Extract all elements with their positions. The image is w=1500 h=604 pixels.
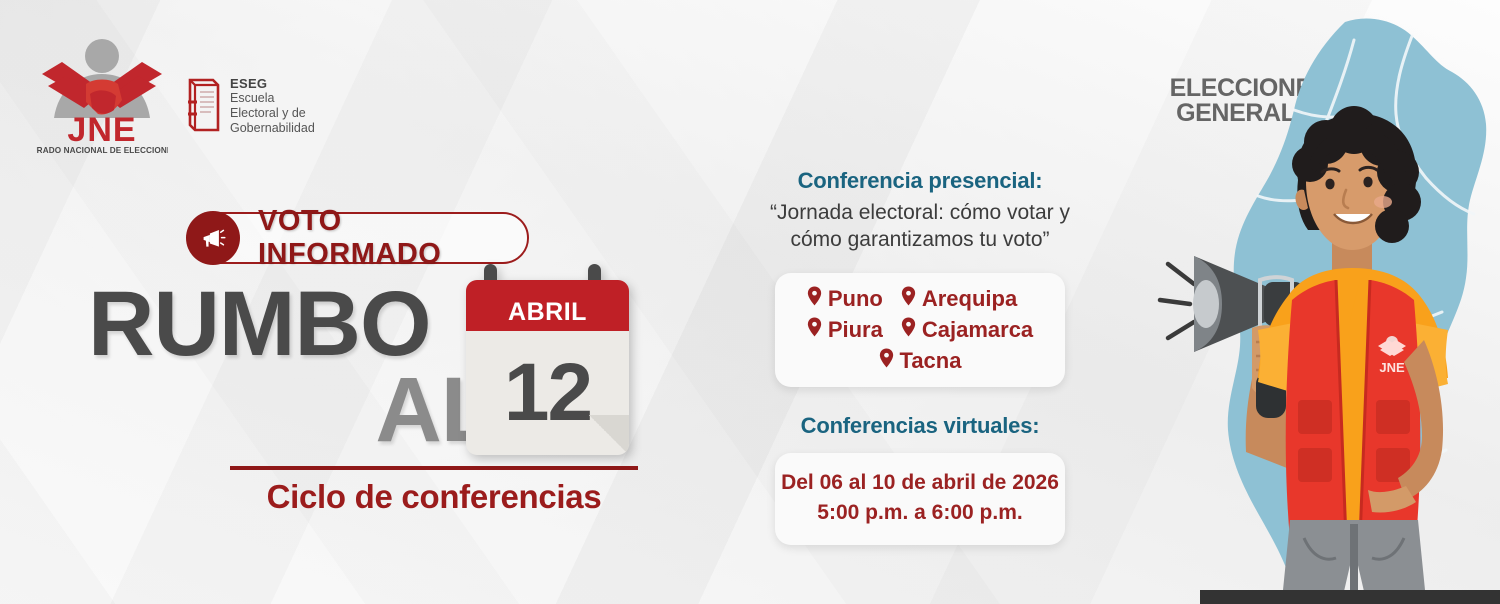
city-label: Cajamarca — [922, 317, 1033, 343]
eseg-line-1: Escuela — [230, 91, 315, 106]
eseg-line-2: Electoral y de — [230, 106, 315, 121]
cities-list: Puno Arequipa — [775, 286, 1065, 374]
virtual-card: Del 06 al 10 de abril de 2026 5:00 p.m. … — [775, 453, 1065, 545]
city-label: Piura — [828, 317, 883, 343]
headline-divider — [230, 466, 638, 470]
eseg-label: ESEG Escuela Electoral y de Gobernabilid… — [230, 76, 315, 136]
voto-informado-badge: VOTO INFORMADO — [190, 212, 529, 264]
calendar-header: ABRIL — [466, 280, 629, 331]
city-label: Arequipa — [922, 286, 1017, 312]
presencial-quote-line-2: cómo garantizamos tu voto” — [735, 227, 1105, 254]
eseg-line-3: Gobernabilidad — [230, 121, 315, 136]
eseg-acronym: ESEG — [230, 76, 315, 91]
calendar-fold-corner — [589, 415, 629, 455]
map-pin-icon — [879, 348, 894, 374]
sound-lines — [1160, 264, 1194, 338]
virtual-heading: Conferencias virtuales: — [735, 413, 1105, 439]
calendar-body: ABRIL 12 — [466, 280, 629, 455]
book-icon — [183, 76, 221, 139]
map-pin-icon — [901, 317, 916, 343]
svg-text:JNE: JNE — [67, 111, 136, 149]
city-label: Tacna — [900, 348, 962, 374]
center-content: Conferencia presencial: “Jornada elector… — [735, 168, 1105, 545]
cities-card: Puno Arequipa — [775, 273, 1065, 387]
virtual-time: 5:00 p.m. a 6:00 p.m. — [775, 498, 1065, 528]
calendar-month: ABRIL — [508, 298, 587, 331]
map-pin-icon — [807, 286, 822, 312]
city-label: Puno — [828, 286, 883, 312]
presencial-quote-line-1: “Jornada electoral: cómo votar y — [735, 200, 1105, 227]
presencial-heading: Conferencia presencial: — [735, 168, 1105, 194]
svg-text:JNE: JNE — [1379, 360, 1405, 375]
city-item: Puno — [807, 286, 883, 312]
floor-bar — [1200, 590, 1500, 604]
calendar-icon: ABRIL 12 — [466, 280, 629, 455]
megaphone-icon — [186, 211, 240, 265]
city-item: Cajamarca — [901, 317, 1033, 343]
jne-logo: JNE JURADO NACIONAL DE ELECCIONES — [36, 32, 168, 156]
map-pin-icon — [807, 317, 822, 343]
svg-text:JURADO NACIONAL DE ELECCIONES: JURADO NACIONAL DE ELECCIONES — [36, 146, 168, 155]
map-pin-icon — [901, 286, 916, 312]
virtual-dates: Del 06 al 10 de abril de 2026 — [775, 468, 1065, 498]
voto-informado-label: VOTO INFORMADO — [258, 205, 527, 271]
promoter-illustration: JNE — [1140, 0, 1500, 604]
presencial-quote: “Jornada electoral: cómo votar y cómo ga… — [735, 200, 1105, 254]
city-item: Piura — [807, 317, 883, 343]
eseg-logo: ESEG Escuela Electoral y de Gobernabilid… — [183, 76, 315, 139]
banner-root: JNE JURADO NACIONAL DE ELECCIONES ESEG E… — [0, 0, 1500, 604]
city-item: Tacna — [807, 348, 1033, 374]
headline-subtitle: Ciclo de conferencias — [230, 478, 638, 516]
city-item: Arequipa — [901, 286, 1033, 312]
